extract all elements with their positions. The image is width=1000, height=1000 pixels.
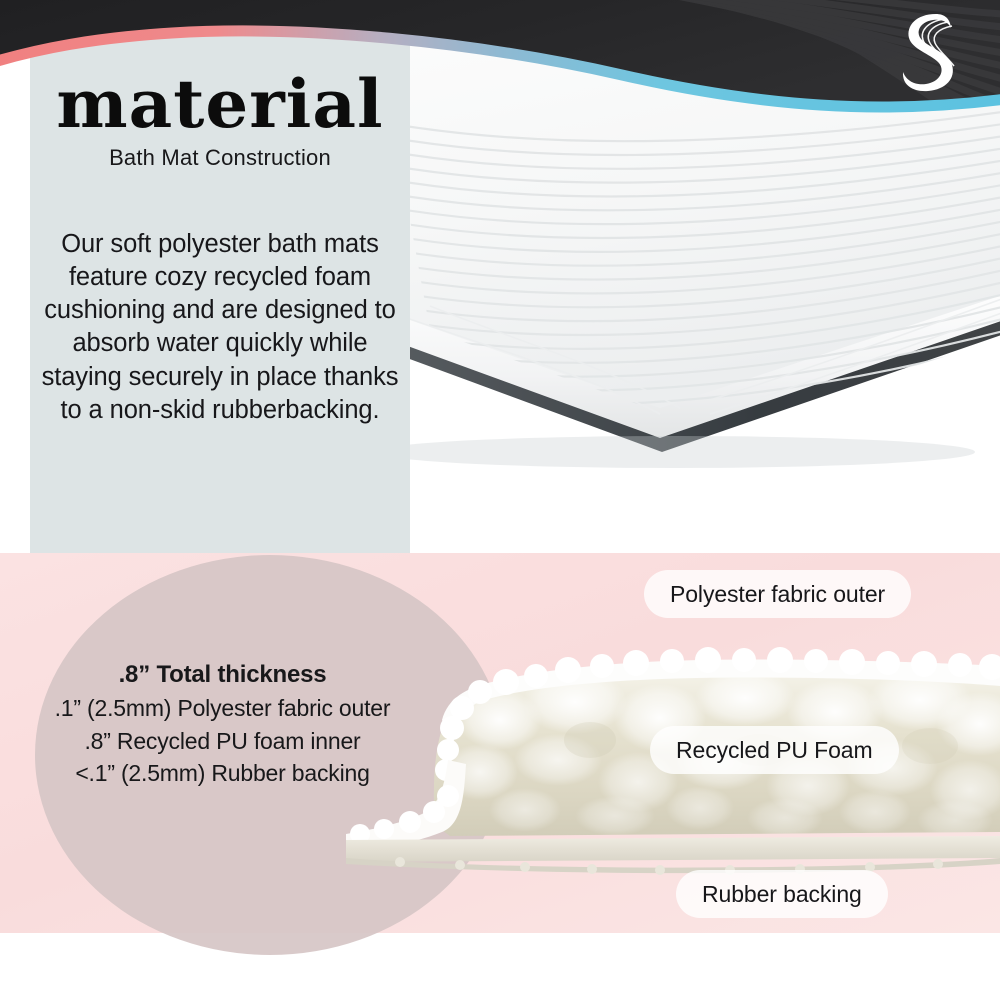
callout-recycled-pu-foam: Recycled PU Foam: [650, 726, 899, 774]
infographic-canvas: material Bath Mat Construction Our soft …: [0, 0, 1000, 1000]
spec-layer-foam: .8” Recycled PU foam inner: [25, 725, 420, 758]
page-subtitle: Bath Mat Construction: [30, 145, 410, 171]
swoosh-s-monogram-icon: [886, 8, 960, 94]
spec-layer-rubber: <.1” (2.5mm) Rubber backing: [25, 757, 420, 790]
logo-svg: [886, 8, 960, 94]
callout-rubber-backing: Rubber backing: [676, 870, 888, 918]
callout-polyester-fabric-outer: Polyester fabric outer: [644, 570, 911, 618]
header-wave-svg: [0, 0, 1000, 130]
spec-total-thickness: .8” Total thickness: [25, 658, 420, 692]
thickness-specs: .8” Total thickness .1” (2.5mm) Polyeste…: [25, 658, 420, 790]
spec-layer-outer: .1” (2.5mm) Polyester fabric outer: [25, 692, 420, 725]
description-text: Our soft polyester bath mats feature coz…: [38, 228, 402, 427]
header-wave-banner: [0, 0, 1000, 130]
